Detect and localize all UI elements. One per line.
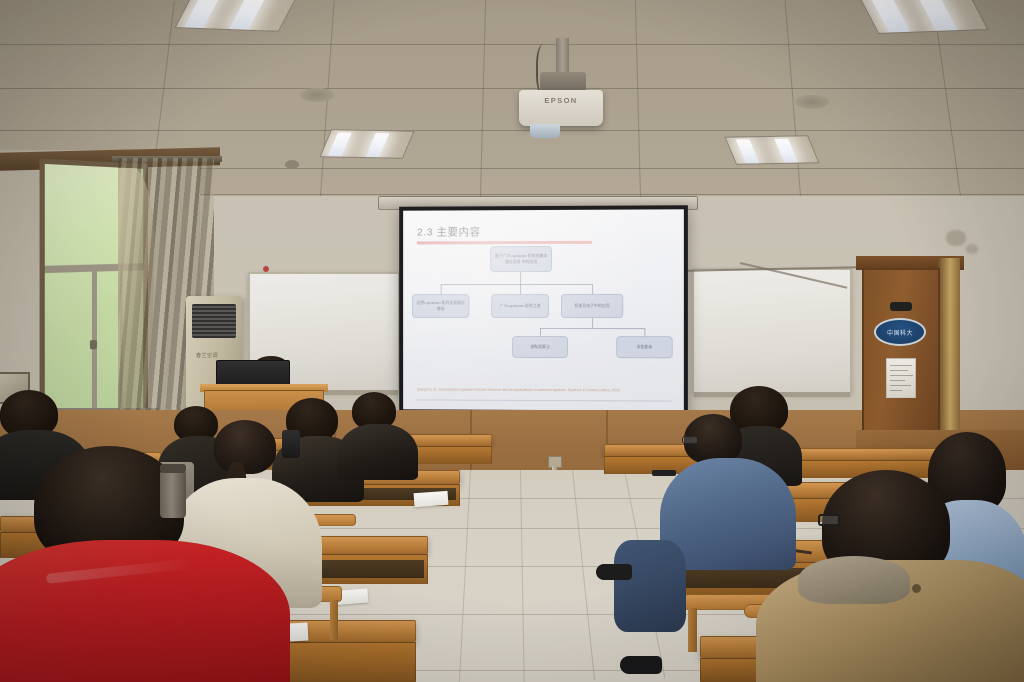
projection-screen: 2.3 主要内容 基于广义Laplacian 矩阵的基本理论及其 中的应用 边界… <box>399 205 688 415</box>
door-label-tab <box>890 302 912 311</box>
thermos <box>160 470 186 518</box>
shoe <box>620 656 662 674</box>
ceiling-light-fixture <box>174 0 299 32</box>
door-jamb <box>938 258 960 458</box>
air-conditioner-grille <box>192 304 236 338</box>
ceiling-grid-line <box>0 130 1024 131</box>
phone-on-desk <box>652 470 676 476</box>
diagram-connector <box>441 284 592 285</box>
diagram-node-2: 广义Laplacian 矩阵之谱 <box>491 294 549 318</box>
paper-on-desk <box>414 491 449 507</box>
ceiling-sensor <box>285 160 299 169</box>
ceiling-light-fixture <box>855 0 988 34</box>
slide-title-underline <box>417 241 592 244</box>
diagram-connector <box>592 284 593 294</box>
eyeglasses <box>818 514 840 526</box>
diagram-connector <box>520 272 521 284</box>
diagram-node-4: 谱聚类算法 <box>512 336 568 358</box>
ceiling-diffuser <box>300 88 334 102</box>
jacket-button <box>912 584 921 593</box>
shoe <box>596 564 632 580</box>
projector-lens <box>530 124 560 138</box>
whiteboard-right <box>692 268 852 394</box>
diagram-connector <box>540 328 644 329</box>
jacket-collar-fur <box>798 556 910 604</box>
whiteboard-magnet <box>263 266 269 272</box>
air-conditioner-badge: 春兰空调 <box>196 352 218 359</box>
diagram-node-root: 基于广义Laplacian 矩阵的基本理论及其 中的应用 <box>490 246 552 272</box>
slide-footer-rule <box>417 399 672 401</box>
ceiling-light-fixture <box>319 129 414 158</box>
wall-scuff <box>966 244 978 254</box>
diagram-connector <box>520 284 521 294</box>
audience-body <box>338 424 418 480</box>
wall-scuff <box>946 230 966 246</box>
door-notice-paper <box>886 358 916 398</box>
slide-title: 2.3 主要内容 <box>417 223 672 239</box>
diagram-connector <box>441 284 442 294</box>
door-plaque: 中国科大 <box>874 318 926 346</box>
presentation-slide: 2.3 主要内容 基于广义Laplacian 矩阵的基本理论及其 中的应用 边界… <box>403 209 684 410</box>
lecture-hall-photo: EPSON 2.3 主要内容 基于广义Laplacian 矩阵的基本理论及其 中… <box>0 0 1024 682</box>
ceiling-grid-line <box>0 88 1024 89</box>
diagram-connector <box>644 328 645 336</box>
audience-legs-denim <box>614 540 686 632</box>
audience-head <box>214 420 276 474</box>
projector-mount-plate <box>540 72 586 92</box>
audience-body-red-jacket <box>0 540 290 682</box>
diagram-node-3: 积体及电子中的应用 <box>561 294 623 318</box>
diagram-node-1: 边界Laplacian 矩阵及其理论基础 <box>412 294 469 318</box>
projector-brand-label: EPSON <box>519 96 603 105</box>
device-on-desk <box>282 430 300 458</box>
chair-leg <box>688 608 697 652</box>
ceiling-light-fixture <box>724 135 819 164</box>
diagram-connector <box>592 318 593 328</box>
ceiling-grid-line <box>0 44 1024 45</box>
chair-leg <box>330 600 338 640</box>
diagram-node-5: 多智能体 <box>616 336 673 358</box>
ceiling-diffuser <box>795 95 829 109</box>
slide-citation: Qiang Fu, et. Generalized Laplacian func… <box>417 388 672 395</box>
thermos-lid <box>160 464 186 473</box>
diagram-connector <box>540 328 541 336</box>
